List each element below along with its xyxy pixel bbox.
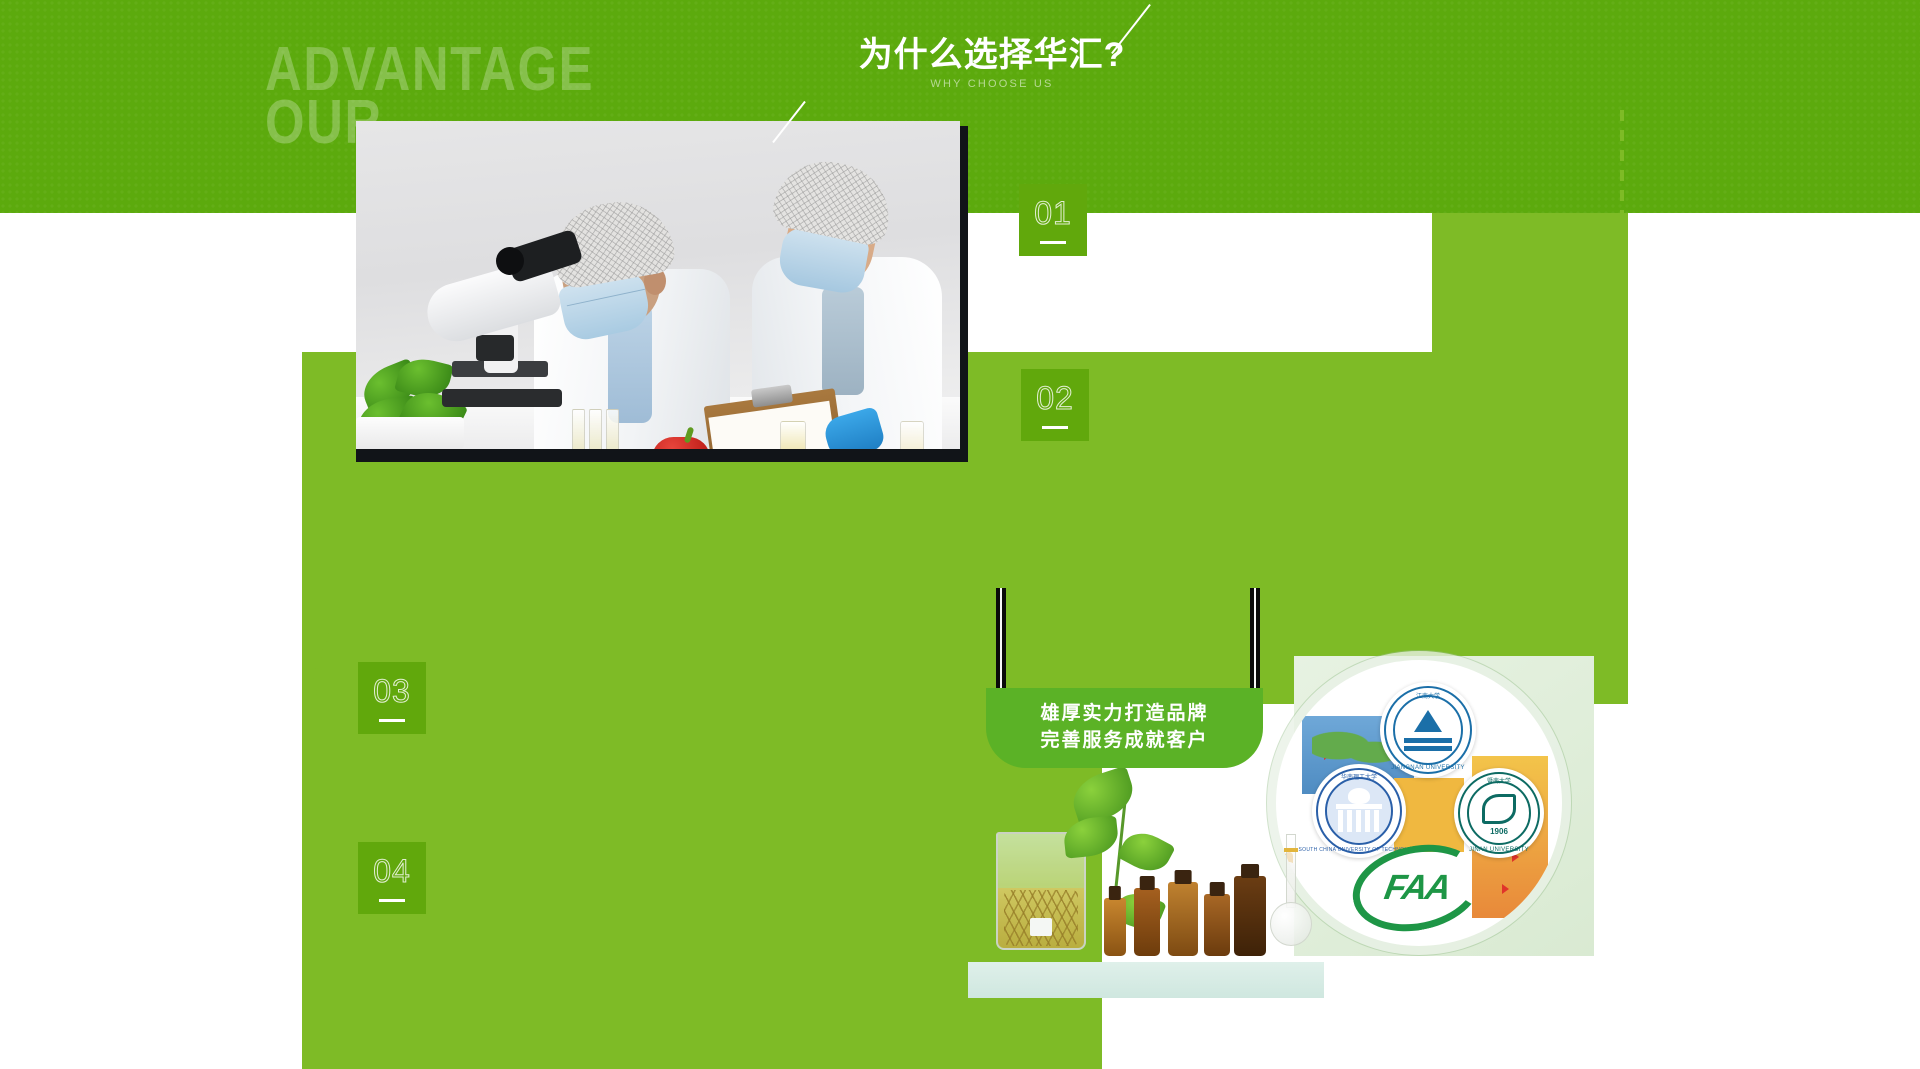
seal-name-en: JIANGNAN UNIVERSITY [1391, 765, 1465, 771]
reagent-bottle [1134, 888, 1160, 956]
plant-pot [356, 417, 464, 449]
microscope-base [442, 389, 562, 407]
badge-number: 01 [1034, 197, 1072, 229]
badge-underline [379, 719, 405, 722]
bench-surface [968, 962, 1324, 998]
jiangnan-university-seal: 江南大学 JIANGNAN UNIVERSITY [1380, 682, 1476, 778]
sample-flask [780, 421, 806, 449]
badge-underline [1042, 426, 1068, 429]
microscope-objective [476, 335, 514, 361]
green-block-upper-right [1432, 213, 1628, 352]
advantage-section: ADVANTAGE OUR 为什么选择华汇? WHY CHOOSE US [0, 0, 1920, 1069]
badge-underline [379, 899, 405, 902]
seal-year: 1906 [1490, 827, 1508, 836]
reagent-bottle [1234, 876, 1266, 956]
number-badge-02[interactable]: 02 [1021, 369, 1089, 441]
hanging-banner: 雄厚实力打造品牌 完善服务成就客户 [986, 588, 1266, 768]
badge-number: 02 [1036, 382, 1074, 414]
faa-wordmark: FAA [1381, 868, 1452, 908]
badge-number: 03 [373, 675, 411, 707]
badge-number: 04 [373, 855, 411, 887]
seal-name-cn: 华南理工大学 [1341, 772, 1377, 781]
seal-name-cn: 暨南大学 [1487, 776, 1511, 785]
reagent-bottle [1168, 882, 1198, 956]
number-badge-03[interactable]: 03 [358, 662, 426, 734]
banner-line-2: 完善服务成就客户 [1040, 728, 1208, 755]
badge-underline [1040, 241, 1066, 244]
sample-flask [900, 421, 924, 449]
faa-logo: FAA [1352, 846, 1482, 930]
page-subtitle: WHY CHOOSE US [822, 78, 1162, 90]
number-badge-04[interactable]: 04 [358, 842, 426, 914]
microscope-lens [496, 247, 524, 275]
banner-plate: 雄厚实力打造品牌 完善服务成就客户 [986, 688, 1263, 768]
number-badge-01[interactable]: 01 [1019, 184, 1087, 256]
banner-line-1: 雄厚实力打造品牌 [1040, 701, 1208, 728]
page-title: 为什么选择华汇? [822, 36, 1162, 74]
test-tube-rack [572, 409, 624, 449]
seal-name-cn: 江南大学 [1416, 691, 1440, 700]
glassware-image [968, 748, 1324, 998]
lab-photo [356, 121, 960, 449]
sample-tag [1030, 918, 1052, 936]
volumetric-flask [1268, 834, 1314, 950]
reagent-bottle [1104, 898, 1126, 956]
south-china-university-of-technology-seal: 华南理工大学 SOUTH CHINA UNIVERSITY OF TECHNOL… [1312, 764, 1406, 858]
scientist-right-shirt [822, 287, 864, 395]
jinan-university-seal: 1906 暨南大学 JINAN UNIVERSITY [1454, 768, 1544, 858]
reagent-bottle [1204, 894, 1230, 956]
dashed-guide-right [1600, 110, 1740, 560]
section-heading: 为什么选择华汇? WHY CHOOSE US [822, 36, 1162, 90]
